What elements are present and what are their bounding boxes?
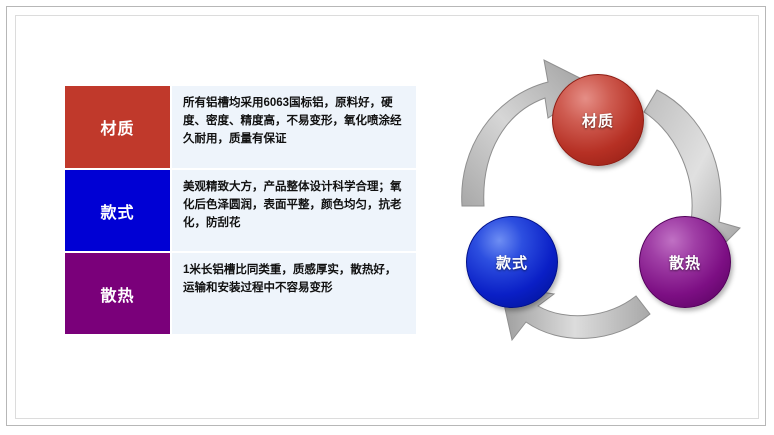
table-row-label-style: 款式 [64, 169, 171, 252]
cycle-node-style-label: 款式 [496, 252, 528, 273]
feature-table: 材质 所有铝槽均采用6063国标铝，原料好，硬度、密度、精度高，不易变形，氧化喷… [64, 85, 417, 335]
cycle-node-heat: 散热 [639, 216, 731, 308]
cycle-node-material-label: 材质 [582, 110, 614, 131]
inner-frame: 材质 所有铝槽均采用6063国标铝，原料好，硬度、密度、精度高，不易变形，氧化喷… [15, 15, 759, 419]
table-row-text-heat-value: 1米长铝槽比同类重，质感厚实，散热好，运输和安装过程中不容易变形 [183, 262, 407, 298]
table-row-text-style: 美观精致大方，产品整体设计科学合理；氧化后色泽圆润，表面平整，颜色均匀，抗老化，… [171, 169, 417, 252]
table-row-text-material: 所有铝槽均采用6063国标铝，原料好，硬度、密度、精度高，不易变形，氧化喷涂经久… [171, 85, 417, 169]
cycle-node-material: 材质 [552, 74, 644, 166]
outer-frame: 材质 所有铝槽均采用6063国标铝，原料好，硬度、密度、精度高，不易变形，氧化喷… [6, 6, 766, 426]
table-row-text-heat: 1米长铝槽比同类重，质感厚实，散热好，运输和安装过程中不容易变形 [171, 252, 417, 335]
cycle-diagram: 材质 散热 款式 [436, 56, 766, 356]
table-row: 散热 1米长铝槽比同类重，质感厚实，散热好，运输和安装过程中不容易变形 [64, 252, 417, 335]
cycle-node-heat-label: 散热 [669, 252, 701, 273]
table-row-label-heat: 散热 [64, 252, 171, 335]
table-row: 款式 美观精致大方，产品整体设计科学合理；氧化后色泽圆润，表面平整，颜色均匀，抗… [64, 169, 417, 252]
table-row-text-material-value: 所有铝槽均采用6063国标铝，原料好，硬度、密度、精度高，不易变形，氧化喷涂经久… [183, 95, 407, 148]
table-row: 材质 所有铝槽均采用6063国标铝，原料好，硬度、密度、精度高，不易变形，氧化喷… [64, 85, 417, 169]
screenshot-canvas: 材质 所有铝槽均采用6063国标铝，原料好，硬度、密度、精度高，不易变形，氧化喷… [0, 0, 774, 435]
cycle-node-style: 款式 [466, 216, 558, 308]
table-row-label-material: 材质 [64, 85, 171, 169]
table-row-text-style-value: 美观精致大方，产品整体设计科学合理；氧化后色泽圆润，表面平整，颜色均匀，抗老化，… [183, 179, 407, 232]
